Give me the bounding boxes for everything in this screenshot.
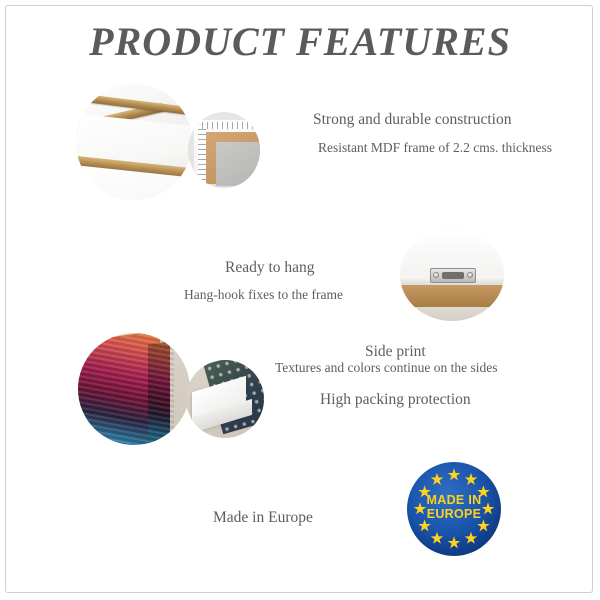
ruler-vertical [198, 120, 206, 186]
frame-corner-canvas [216, 142, 260, 186]
wall-background [400, 307, 504, 321]
badge-text-line2: EUROPE [406, 508, 502, 522]
ruler-horizontal [198, 122, 260, 129]
packing-protection-photo [186, 360, 264, 438]
feature-hang-subtext: Hang-hook fixes to the frame [184, 285, 343, 305]
feature-origin-text: Made in Europe [213, 508, 313, 528]
feature-sideprint-subtext-wrap: Textures and colors continue on the side… [275, 358, 498, 378]
feature-durability-subtext-wrap: Resistant MDF frame of 2.2 cms. thicknes… [318, 138, 552, 158]
frame-construction-photo [76, 84, 192, 200]
feature-hang-subtext-wrap: Hang-hook fixes to the frame [184, 285, 343, 305]
canvas-texture-streaks [78, 333, 174, 445]
feature-durability-text: Strong and durable construction [313, 110, 511, 130]
feature-packing-text: High packing protection [320, 390, 471, 410]
hook-screw-left [433, 272, 439, 278]
frame-wood-strip [400, 285, 504, 307]
product-features-infographic: PRODUCT FEATURES Strong and durable cons… [0, 0, 600, 600]
made-in-europe-badge: MADE IN EUROPE [406, 461, 502, 557]
side-print-photo [78, 333, 190, 445]
page-title: PRODUCT FEATURES [0, 18, 600, 65]
feature-hang-text: Ready to hang [225, 258, 315, 278]
hook-slot [442, 272, 464, 279]
frame-thickness-ruler-photo [188, 112, 260, 188]
feature-hang-heading: Ready to hang [225, 258, 315, 278]
badge-text-line1: MADE IN [406, 494, 502, 508]
feature-durability-heading: Strong and durable construction [313, 110, 511, 130]
badge-text: MADE IN EUROPE [406, 494, 502, 521]
feature-sideprint-subtext: Textures and colors continue on the side… [275, 358, 498, 378]
hook-screw-right [467, 272, 473, 278]
feature-durability-subtext: Resistant MDF frame of 2.2 cms. thicknes… [318, 138, 552, 158]
feature-origin-heading: Made in Europe [213, 508, 313, 528]
hang-hook-photo [400, 229, 504, 321]
feature-packing-heading: High packing protection [320, 390, 471, 410]
